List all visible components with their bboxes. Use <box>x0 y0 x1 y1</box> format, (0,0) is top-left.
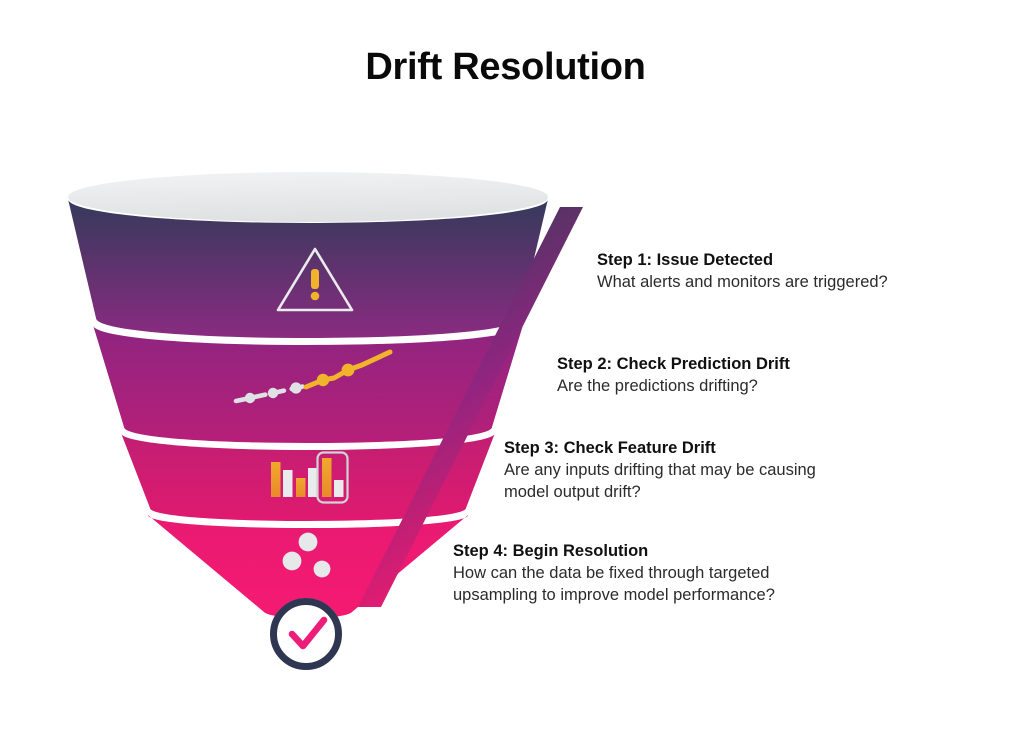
step-1-block: Step 1: Issue Detected What alerts and m… <box>597 250 888 294</box>
diagram-canvas: Drift Resolution <box>0 0 1011 744</box>
step-3-title: Step 3: Check Feature Drift <box>504 438 816 459</box>
step-4-description: How can the data be fixed through target… <box>453 563 775 607</box>
bar-2 <box>283 470 293 497</box>
step-4-block: Step 4: Begin Resolution How can the dat… <box>453 541 775 607</box>
bar-3 <box>296 478 306 497</box>
step-2-description: Are the predictions drifting? <box>557 376 790 398</box>
step-2-title: Step 2: Check Prediction Drift <box>557 354 790 375</box>
bar-5 <box>322 458 332 497</box>
step-3-description-line-1: Are any inputs drifting that may be caus… <box>504 461 816 479</box>
step-1-description: What alerts and monitors are triggered? <box>597 272 888 294</box>
step-3-description: Are any inputs drifting that may be caus… <box>504 460 816 504</box>
bar-1 <box>271 462 281 497</box>
step-1-description-line-1: What alerts and monitors are triggered? <box>597 273 888 291</box>
step-4-description-line-2: upsampling to improve model performance? <box>453 585 775 607</box>
step-1-title: Step 1: Issue Detected <box>597 250 888 271</box>
bar-4 <box>308 468 318 497</box>
step-3-block: Step 3: Check Feature Drift Are any inpu… <box>504 438 816 504</box>
step-2-description-line-1: Are the predictions drifting? <box>557 377 758 395</box>
step-4-title: Step 4: Begin Resolution <box>453 541 775 562</box>
step-3-description-line-2: model output drift? <box>504 482 816 504</box>
step-2-block: Step 2: Check Prediction Drift Are the p… <box>557 354 790 398</box>
bar-6 <box>334 480 344 497</box>
step-4-description-line-1: How can the data be fixed through target… <box>453 564 769 582</box>
check-circle-icon[interactable] <box>270 598 342 670</box>
funnel-rim <box>68 172 548 222</box>
funnel-diagram <box>0 0 1011 744</box>
